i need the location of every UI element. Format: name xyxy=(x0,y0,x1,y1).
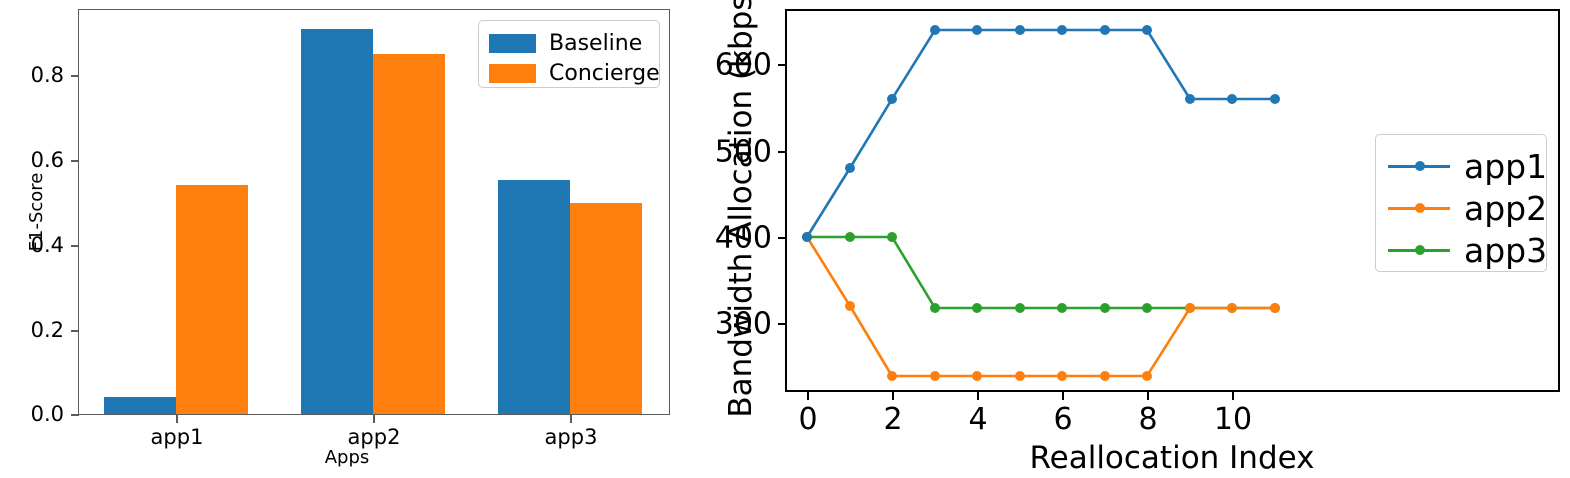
bar-baseline-app3 xyxy=(498,180,570,414)
bar-concierge-app3 xyxy=(570,203,642,414)
series-line-app3 xyxy=(807,237,1275,308)
series-line-app2 xyxy=(807,237,1275,376)
legend-label-app1: app1 xyxy=(1464,147,1547,186)
legend-label-baseline: Baseline xyxy=(549,31,642,56)
x-tick-label-app1: app1 xyxy=(151,425,204,449)
bandwidth-allocation-line-chart-panel: 600 500 400 300 0 2 4 6 8 10 Reallocatio… xyxy=(690,0,1570,478)
figure-canvas: 0.8 0.6 0.4 0.2 0.0 app1 app2 app3 Apps … xyxy=(0,0,1570,478)
legend-swatch-concierge xyxy=(489,64,536,83)
legend-entry-app2[interactable]: app2 xyxy=(1388,187,1534,229)
line-chart-legend[interactable]: app1 app2 app3 xyxy=(1375,134,1547,272)
legend-entry-concierge[interactable]: Concierge xyxy=(489,58,649,88)
legend-label-app2: app2 xyxy=(1464,189,1547,228)
x-tickmark xyxy=(176,415,178,423)
legend-label-app3: app3 xyxy=(1464,231,1547,270)
y-tickmark xyxy=(71,75,79,77)
legend-entry-app3[interactable]: app3 xyxy=(1388,229,1534,271)
y-tick-label: 0.6 xyxy=(31,148,64,172)
y-tickmark xyxy=(71,245,79,247)
legend-label-concierge: Concierge xyxy=(549,61,660,86)
legend-swatch-baseline xyxy=(489,34,536,53)
y-tick-label: 0.2 xyxy=(31,318,64,342)
legend-entry-baseline[interactable]: Baseline xyxy=(489,28,649,58)
x-tick-label-app3: app3 xyxy=(545,425,598,449)
x-tick-label-app2: app2 xyxy=(348,425,401,449)
series-markers-app3 xyxy=(802,232,1280,313)
x-tickmark xyxy=(570,415,572,423)
y-tickmark xyxy=(71,160,79,162)
legend-marker-app3 xyxy=(1388,240,1450,260)
bar-chart-legend[interactable]: Baseline Concierge xyxy=(478,20,660,88)
bar-concierge-app2 xyxy=(373,54,445,414)
legend-entry-app1[interactable]: app1 xyxy=(1388,145,1534,187)
legend-marker-app1 xyxy=(1388,156,1450,176)
x-tickmark xyxy=(373,415,375,423)
y-tickmark xyxy=(71,414,79,416)
bar-chart-y-axis-title: F1-Score xyxy=(26,173,47,252)
y-tickmark xyxy=(71,330,79,332)
series-markers-app2 xyxy=(802,232,1280,381)
series-markers-app1 xyxy=(802,25,1280,242)
bar-baseline-app2 xyxy=(301,29,373,414)
bar-chart-x-axis-title: Apps xyxy=(325,447,370,468)
y-tick-label: 0.0 xyxy=(31,402,64,426)
f1-score-bar-chart-panel: 0.8 0.6 0.4 0.2 0.0 app1 app2 app3 Apps … xyxy=(0,0,690,478)
legend-marker-app2 xyxy=(1388,198,1450,218)
series-line-app1 xyxy=(807,30,1275,237)
bar-baseline-app1 xyxy=(104,397,176,414)
bar-concierge-app1 xyxy=(176,185,248,414)
y-tick-label: 0.8 xyxy=(31,63,64,87)
